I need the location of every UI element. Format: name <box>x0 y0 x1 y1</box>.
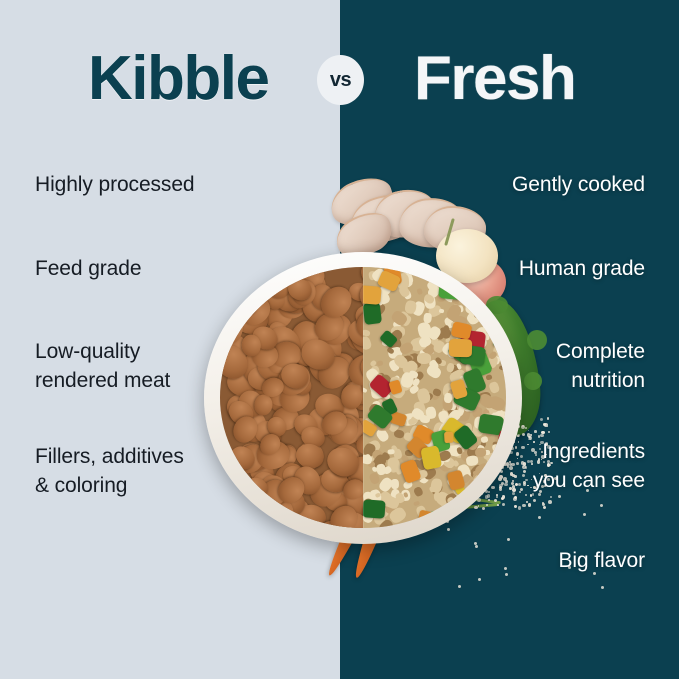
fresh-attribute-4: Ingredients you can see <box>533 437 645 495</box>
headline-kibble: Kibble <box>88 36 313 120</box>
fresh-attribute-5: Big flavor <box>558 546 645 575</box>
versus-badge: vs <box>317 55 364 105</box>
kibble-attribute-3: Low-quality rendered meat <box>35 337 170 395</box>
comparison-graphic: Kibble Fresh vs Highly processedFeed gra… <box>0 0 679 679</box>
kibble-attribute-1: Highly processed <box>35 170 194 199</box>
fresh-attribute-3: Complete nutrition <box>556 337 645 395</box>
kibble-attribute-4: Fillers, additives & coloring <box>35 442 184 500</box>
kibble-attribute-2: Feed grade <box>35 254 141 283</box>
fresh-attribute-2: Human grade <box>519 254 645 283</box>
fresh-attribute-1: Gently cooked <box>512 170 645 199</box>
versus-label: vs <box>330 69 351 92</box>
headline-fresh: Fresh <box>414 36 664 120</box>
